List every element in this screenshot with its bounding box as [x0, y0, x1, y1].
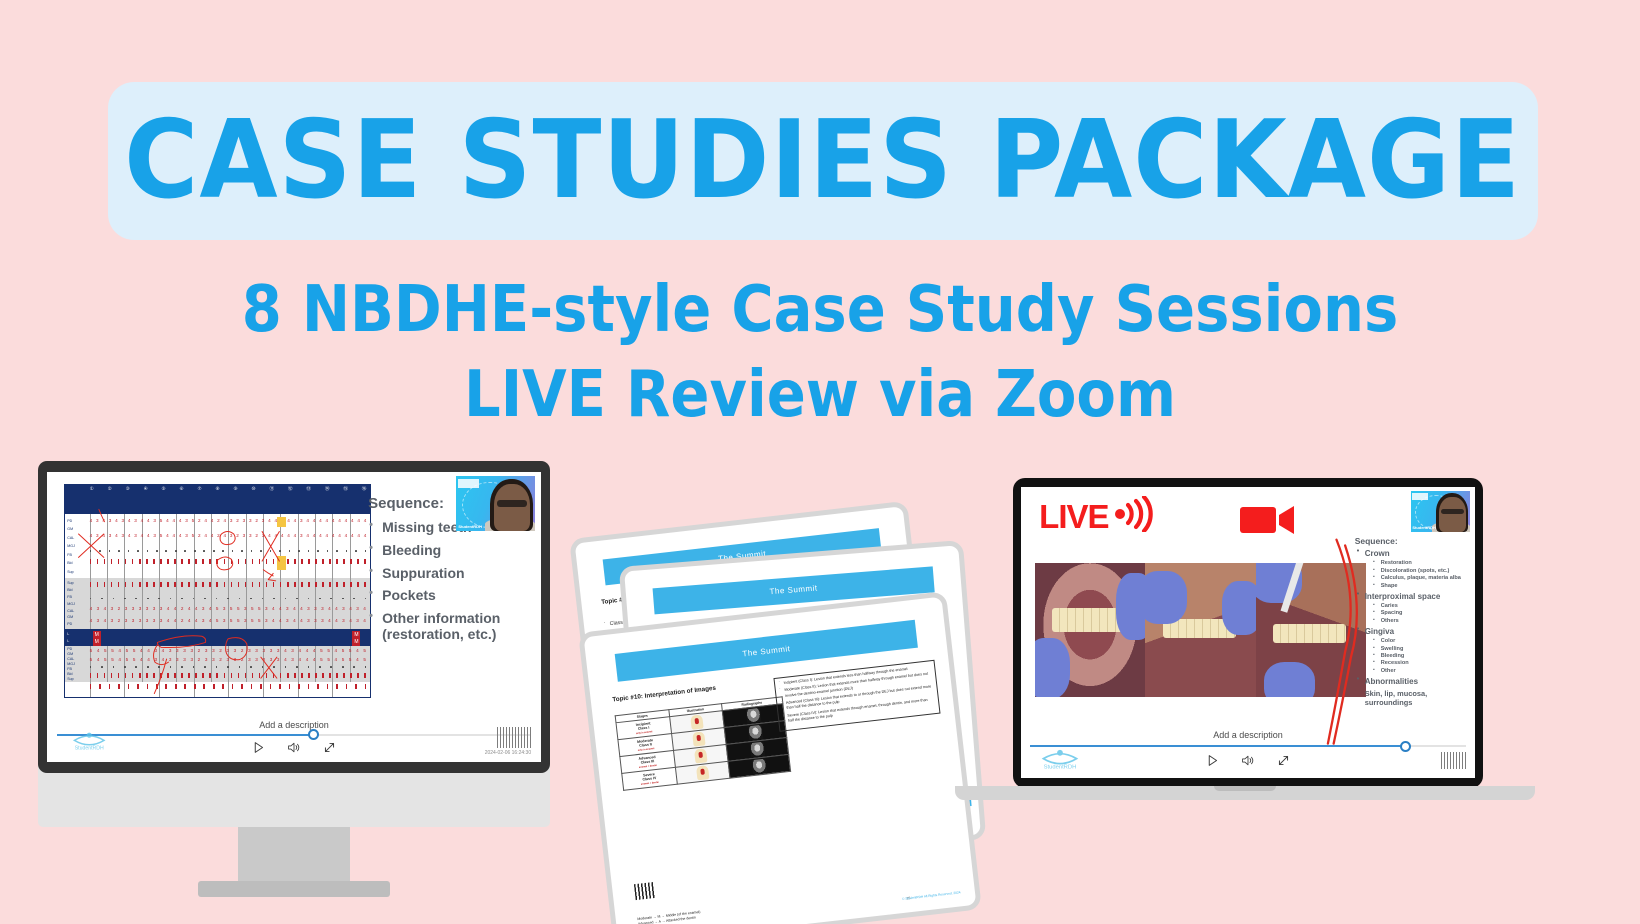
glove-icon — [1222, 581, 1255, 635]
monitor-screen: ①②③④⑤⑥⑦⑧⑨⑩⑪⑫⑬⑭⑮⑯ PDGMCALMGJFBBldSup 434 — [47, 472, 541, 762]
chart-row-labels-lower: PDGMCALMGJFBBldSup — [66, 646, 90, 682]
chart-pd-row-2: 4343233333344244345355355344344333443434 — [90, 618, 367, 623]
sequence-title: Sequence: — [1355, 536, 1473, 546]
watermark-barcode-icon — [497, 727, 532, 747]
caries-stages-table: Stages Illustration Radiographs Incipien… — [614, 696, 791, 791]
volume-icon[interactable] — [287, 741, 301, 754]
definitions-box: Incipient (Class I): Lesion that extends… — [773, 660, 940, 732]
fullscreen-icon[interactable] — [323, 741, 336, 754]
timestamp: 2024-02-06 16:24:30 — [485, 750, 531, 756]
sequence-subitem: Restoration — [1381, 560, 1473, 566]
chart-band-maxillary-lingual: SupBldFBMGJCALGMPD 434323333334424434535… — [65, 578, 369, 629]
broadcast-signal-icon — [1113, 496, 1157, 537]
page-subtitle: 8 NBDHE-style Case Study Sessions LIVE R… — [0, 268, 1640, 438]
sequence-subitem: Calculus, plaque, materia alba — [1381, 575, 1473, 581]
progress-bar[interactable] — [1030, 745, 1466, 747]
radiograph-icon — [749, 741, 764, 756]
glove-icon — [1264, 662, 1315, 697]
brand-logo-icon: StudentRDH — [1035, 747, 1085, 775]
sequence-subitem: Discoloration (spots, etc.) — [1381, 568, 1473, 574]
sequence-subitem: Other — [1381, 668, 1473, 674]
chart-band-mandibular-facial: PDGMCALMGJFBBldSup 545545544343333233233… — [65, 646, 369, 682]
monitor-bezel: ①②③④⑤⑥⑦⑧⑨⑩⑪⑫⑬⑭⑮⑯ PDGMCALMGJFBBldSup 434 — [38, 461, 550, 773]
avatar — [1439, 497, 1466, 532]
chart-gridlines — [65, 514, 369, 578]
teeth-overlay — [1273, 624, 1346, 643]
chart-bleeding-row-3 — [90, 673, 367, 678]
sequence-panel-right: Sequence: Crown Restoration Discoloratio… — [1355, 536, 1473, 707]
glove-icon — [1145, 571, 1187, 625]
monitor-base — [38, 765, 550, 827]
chart-highlight-cell-2 — [277, 556, 286, 570]
chart-arch-labels: LL — [66, 629, 90, 646]
sequence-tail-text: Skin, lip, mucosa, surroundings — [1365, 690, 1473, 707]
footer-logo-icon — [633, 882, 655, 900]
sequence-group-label: Gingiva — [1365, 627, 1473, 636]
player-controls — [47, 736, 541, 759]
page-title: CASE STUDIES PACKAGE — [125, 107, 1522, 215]
slide-footnote: Moderate → M → Middle (of the enamel) Ad… — [637, 910, 701, 924]
sequence-groups: Crown Restoration Discoloration (spots, … — [1355, 549, 1473, 686]
participant-name: StudentRDH — [458, 524, 482, 529]
laptop-screen: LIVE — [1021, 487, 1475, 778]
sequence-subitem: Recession — [1381, 660, 1473, 666]
description-placeholder[interactable]: Add a description — [47, 720, 541, 730]
chart-bleeding-row-1 — [90, 559, 367, 564]
intraoral-photo-strip — [1035, 563, 1366, 697]
chart-row-labels-top: PDGMCALMGJFBBldSup — [66, 514, 90, 578]
radiograph-icon — [747, 724, 762, 739]
sequence-subitem: Others — [1381, 618, 1473, 624]
sequence-subitem: Swelling — [1381, 646, 1473, 652]
radiograph-icon — [751, 758, 766, 773]
sequence-list: Missing teeth Bleeding Suppuration Pocke… — [368, 520, 531, 642]
tooth-icon — [694, 748, 708, 763]
sequence-item: Suppuration — [382, 566, 531, 582]
tooth-icon — [696, 765, 710, 780]
tooth-number-row-top: ①②③④⑤⑥⑦⑧⑨⑩⑪⑫⑬⑭⑮⑯ — [90, 486, 367, 492]
chart-cal-row-3: 545545544343333233233233333434445545545 — [90, 657, 367, 662]
chart-missing-marker-left-2: M — [93, 638, 101, 646]
periodontal-chart: ①②③④⑤⑥⑦⑧⑨⑩⑪⑫⑬⑭⑮⑯ PDGMCALMGJFBBldSup 434 — [64, 484, 370, 699]
slide-stack: The Summit Topic #10: Interpretation of … — [575, 495, 985, 855]
slide-topic: Topic #10: Interpretation of Images — [612, 685, 716, 704]
play-icon[interactable] — [252, 741, 265, 754]
title-banner: CASE STUDIES PACKAGE — [108, 82, 1538, 240]
volume-icon[interactable] — [1241, 754, 1255, 767]
sequence-subitem: Spacing — [1381, 610, 1473, 616]
sequence-item: Pockets — [382, 588, 531, 604]
progress-fill — [1030, 745, 1405, 747]
sequence-item: Other information (restoration, etc.) — [382, 611, 531, 642]
sequence-subitem: Shape — [1381, 583, 1473, 589]
sequence-subitem: Bleeding — [1381, 653, 1473, 659]
webcam-thumbnail[interactable]: StudentRDH — [1411, 491, 1470, 532]
teeth-overlay — [1052, 608, 1125, 632]
chart-pd-row-3: 545545544343333233233233333434445545545 — [90, 648, 367, 653]
play-icon[interactable] — [1206, 754, 1219, 767]
glove-icon — [1035, 638, 1070, 697]
sequence-group-label: Abnormalities — [1365, 677, 1473, 686]
radiograph-icon — [745, 708, 760, 723]
monitor-foot — [198, 881, 390, 897]
participant-name: StudentRDH — [1412, 525, 1436, 530]
sequence-item: Bleeding — [382, 543, 531, 559]
chart-cal-row-1: 4343434344354443524424323323444443444444… — [90, 533, 367, 538]
webcam-badge-icon — [458, 479, 479, 488]
live-label: LIVE — [1039, 500, 1108, 533]
description-placeholder[interactable]: Add a description — [1021, 730, 1475, 740]
laptop-device: LIVE — [955, 478, 1535, 820]
slide-card-front[interactable]: The Summit Topic #10: Interpretation of … — [578, 591, 982, 924]
tooth-icon — [690, 714, 704, 729]
sequence-subitem: Caries — [1381, 603, 1473, 609]
chart-mgj-dots-2 — [90, 598, 367, 600]
chart-band-divider: LL M M M M — [65, 629, 369, 646]
intraoral-photo-injection — [1256, 563, 1366, 697]
svg-text:StudentRDH: StudentRDH — [74, 746, 103, 751]
avatar — [494, 484, 530, 531]
watermark-barcode-icon — [1441, 752, 1468, 769]
glove-icon — [1116, 573, 1145, 640]
intraoral-photo-anterior — [1035, 563, 1145, 697]
video-camera-icon — [1239, 502, 1297, 543]
chart-band-maxillary-facial: PDGMCALMGJFBBldSup 434343434435444352442… — [65, 514, 369, 578]
chart-bleeding-row-2 — [90, 582, 367, 587]
brand-logo-icon: StudentRDH — [67, 730, 111, 756]
live-badge: LIVE — [1039, 496, 1156, 537]
copyright-text: © StudentRDH All Rights Reserved. 2024 — [902, 890, 961, 901]
fullscreen-icon[interactable] — [1277, 754, 1290, 767]
webcam-thumbnail[interactable]: StudentRDH — [456, 476, 535, 530]
monitor-neck — [238, 827, 350, 887]
tooth-icon — [692, 731, 706, 746]
chart-missing-marker-right-2: M — [352, 638, 360, 646]
chart-band-mandibular-lingual — [65, 682, 369, 697]
chart-pd-row-1: 4343434344354443524424323323444443444444… — [90, 518, 367, 523]
chart-mgj-dots-3 — [90, 666, 367, 668]
intraoral-photo-probing — [1145, 563, 1255, 697]
webcam-badge-icon — [1412, 493, 1427, 499]
chart-header-band: ①②③④⑤⑥⑦⑧⑨⑩⑪⑫⑬⑭⑮⑯ — [65, 485, 369, 515]
sequence-group-label: Interproximal space — [1365, 592, 1473, 601]
chart-cal-row-2: 4343233333344244345355355344344333443434 — [90, 606, 367, 611]
chart-bleeding-row-4 — [90, 684, 367, 689]
chart-row-labels-mid: SupBldFBMGJCALGMPD — [66, 578, 90, 629]
laptop-base — [955, 786, 1535, 800]
chart-highlight-cell-1 — [277, 517, 286, 527]
laptop-bezel: LIVE — [1013, 478, 1483, 788]
desktop-monitor: ①②③④⑤⑥⑦⑧⑨⑩⑪⑫⑬⑭⑮⑯ PDGMCALMGJFBBldSup 434 — [38, 461, 550, 875]
svg-text:StudentRDH: StudentRDH — [1043, 764, 1076, 770]
sequence-subitem: Color — [1381, 638, 1473, 644]
sequence-group-label: Crown — [1365, 549, 1473, 558]
chart-mgj-dots — [90, 550, 367, 552]
player-controls — [1021, 749, 1475, 772]
